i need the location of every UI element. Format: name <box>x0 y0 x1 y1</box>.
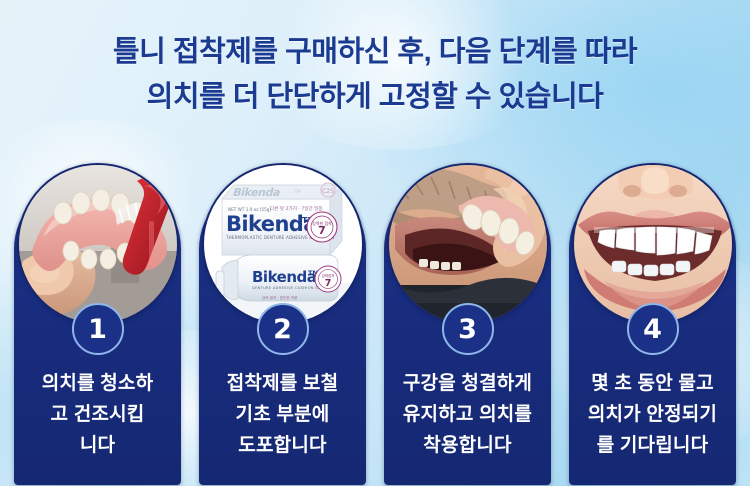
step-number-1: 1 <box>88 316 107 343</box>
step-cards-row: 1 의치를 청소하 고 건조시킵 니다 <box>0 163 750 485</box>
step-badge-2: 2 <box>257 303 309 355</box>
step-badge-1: 1 <box>72 303 124 355</box>
step-number-4: 4 <box>643 316 662 343</box>
step-card-1[interactable]: 1 의치를 청소하 고 건조시킵 니다 <box>14 163 181 485</box>
caption-line: 접착제를 보철 <box>205 368 360 399</box>
svg-text:Bikenda: Bikenda <box>231 186 281 199</box>
step-badge-4: 4 <box>627 303 679 355</box>
step-card-2[interactable]: Bikenda TM C25 NET WT 1.9 oz (55g) 다른 맛 … <box>199 163 366 485</box>
svg-text:7: 7 <box>324 278 331 289</box>
smiling-teeth-photo <box>572 163 734 325</box>
svg-text:강력 밀착 · 편안한 착용: 강력 밀착 · 편안한 착용 <box>262 295 298 300</box>
step-card-3[interactable]: 3 구강을 청결하게 유지하고 의치를 착용합니다 <box>384 163 551 485</box>
svg-text:7: 7 <box>318 224 326 237</box>
headline: 틀니 접착제를 구매하신 후, 다음 단계를 따라 의치를 더 단단하게 고정할… <box>0 30 750 120</box>
svg-text:Bikenda: Bikenda <box>252 268 316 286</box>
svg-text:DENTURE ADHESIVE CUSHION SEAL: DENTURE ADHESIVE CUSHION SEAL <box>252 286 325 290</box>
caption-line: 도포합니다 <box>205 430 360 461</box>
caption-line: 유지하고 의치를 <box>390 399 545 430</box>
caption-line: 착용합니다 <box>390 430 545 461</box>
headline-line-1: 틀니 접착제를 구매하신 후, 다음 단계를 따라 <box>0 30 750 75</box>
step-caption-2: 접착제를 보철 기초 부분에 도포합니다 <box>205 368 360 461</box>
caption-line: 의치가 안정되기 <box>575 399 730 430</box>
inserting-denture-photo <box>387 163 549 325</box>
svg-text:TM: TM <box>291 189 301 195</box>
step-number-2: 2 <box>273 316 292 343</box>
step-caption-1: 의치를 청소하 고 건조시킵 니다 <box>20 368 175 461</box>
caption-line: 를 기다립니다 <box>575 430 730 461</box>
step-number-3: 3 <box>458 316 477 343</box>
caption-line: 몇 초 동안 물고 <box>575 368 730 399</box>
step-card-4[interactable]: 4 몇 초 동안 물고 의치가 안정되기 를 기다립니다 <box>569 163 736 485</box>
caption-line: 의치를 청소하 <box>20 368 175 399</box>
step-caption-3: 구강을 청결하게 유지하고 의치를 착용합니다 <box>390 368 545 461</box>
caption-line: 니다 <box>20 430 175 461</box>
step-badge-3: 3 <box>442 303 494 355</box>
adhesive-product-photo: Bikenda TM C25 NET WT 1.9 oz (55g) 다른 맛 … <box>202 163 364 325</box>
headline-line-2: 의치를 더 단단하게 고정할 수 있습니다 <box>0 75 750 120</box>
caption-line: 고 건조시킵 <box>20 399 175 430</box>
caption-line: 기초 부분에 <box>205 399 360 430</box>
svg-text:C25: C25 <box>322 188 334 195</box>
denture-brushing-photo <box>17 163 179 325</box>
step-caption-4: 몇 초 동안 물고 의치가 안정되기 를 기다립니다 <box>575 368 730 461</box>
svg-text:다른 맛 2가지 · 7일간 밀봉: 다른 맛 2가지 · 7일간 밀봉 <box>270 205 323 212</box>
poster-root: 틀니 접착제를 구매하신 후, 다음 단계를 따라 의치를 더 단단하게 고정할… <box>0 0 750 500</box>
caption-line: 구강을 청결하게 <box>390 368 545 399</box>
